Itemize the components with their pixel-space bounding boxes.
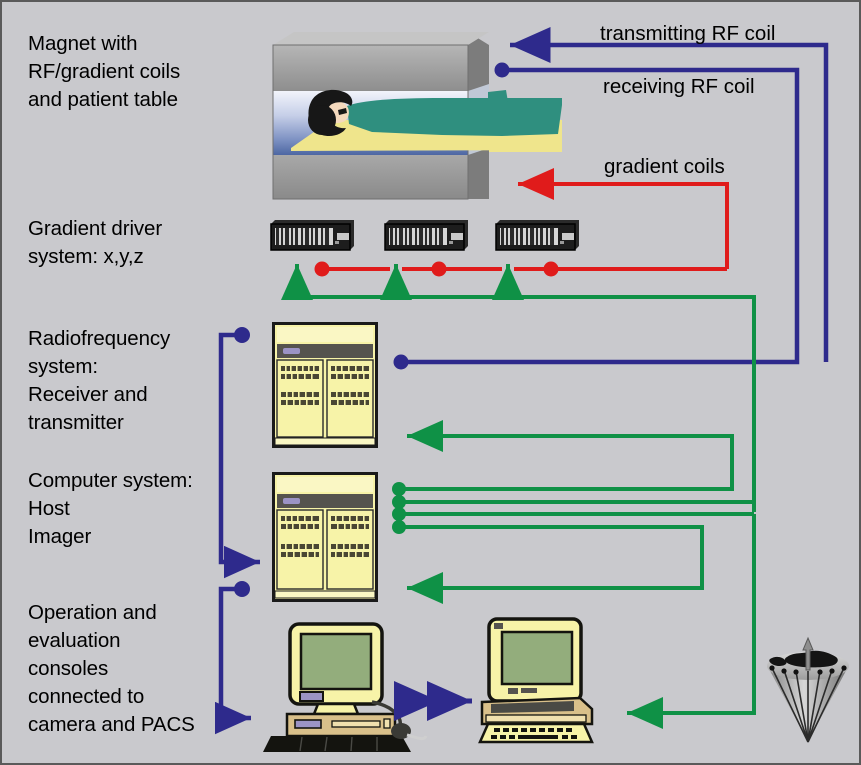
receiving-rf-coil-link [402, 70, 797, 362]
label-computer-system: Computer system: Host Imager [28, 467, 193, 551]
gradient-coils-link [518, 184, 727, 269]
computer-to-console-right-link [398, 527, 702, 588]
label-transmitting-rf-coil: transmitting RF coil [600, 22, 775, 46]
computer-to-rf-dot [392, 482, 406, 496]
gradient-driver-y-red-dot [432, 262, 447, 277]
label-receiving-rf-coil: receiving RF coil [603, 75, 755, 99]
computer-trunk-dot [392, 507, 406, 521]
label-gradient-coils: gradient coils [604, 155, 725, 179]
pacs-trunk-to-console-link [627, 514, 754, 713]
label-gradient-driver: Gradient driver system: x,y,z [28, 215, 162, 271]
gradient-driver-z-red-dot [544, 262, 559, 277]
gradient-driver-bus [297, 264, 754, 512]
computer-to-console-left-link [221, 589, 251, 718]
computer-to-pacs-dot [392, 495, 406, 509]
rf-to-computer-link [221, 335, 260, 562]
computer-to-rf-link [398, 436, 732, 489]
label-operation-consoles: Operation and evaluation consoles connec… [28, 599, 195, 739]
receiving-rf-coil-target-dot [394, 355, 409, 370]
mri-system-diagram: Magnet with RF/gradient coils and patien… [0, 0, 861, 765]
label-radiofrequency: Radiofrequency system: Receiver and tran… [28, 325, 170, 437]
receiving-rf-coil-source-dot [495, 63, 510, 78]
computer-to-console-right-dot [392, 520, 406, 534]
rf-to-computer-dot [234, 327, 250, 343]
computer-to-console-left-dot [234, 581, 250, 597]
gradient-driver-x-red-dot [315, 262, 330, 277]
label-magnet: Magnet with RF/gradient coils and patien… [28, 30, 180, 114]
